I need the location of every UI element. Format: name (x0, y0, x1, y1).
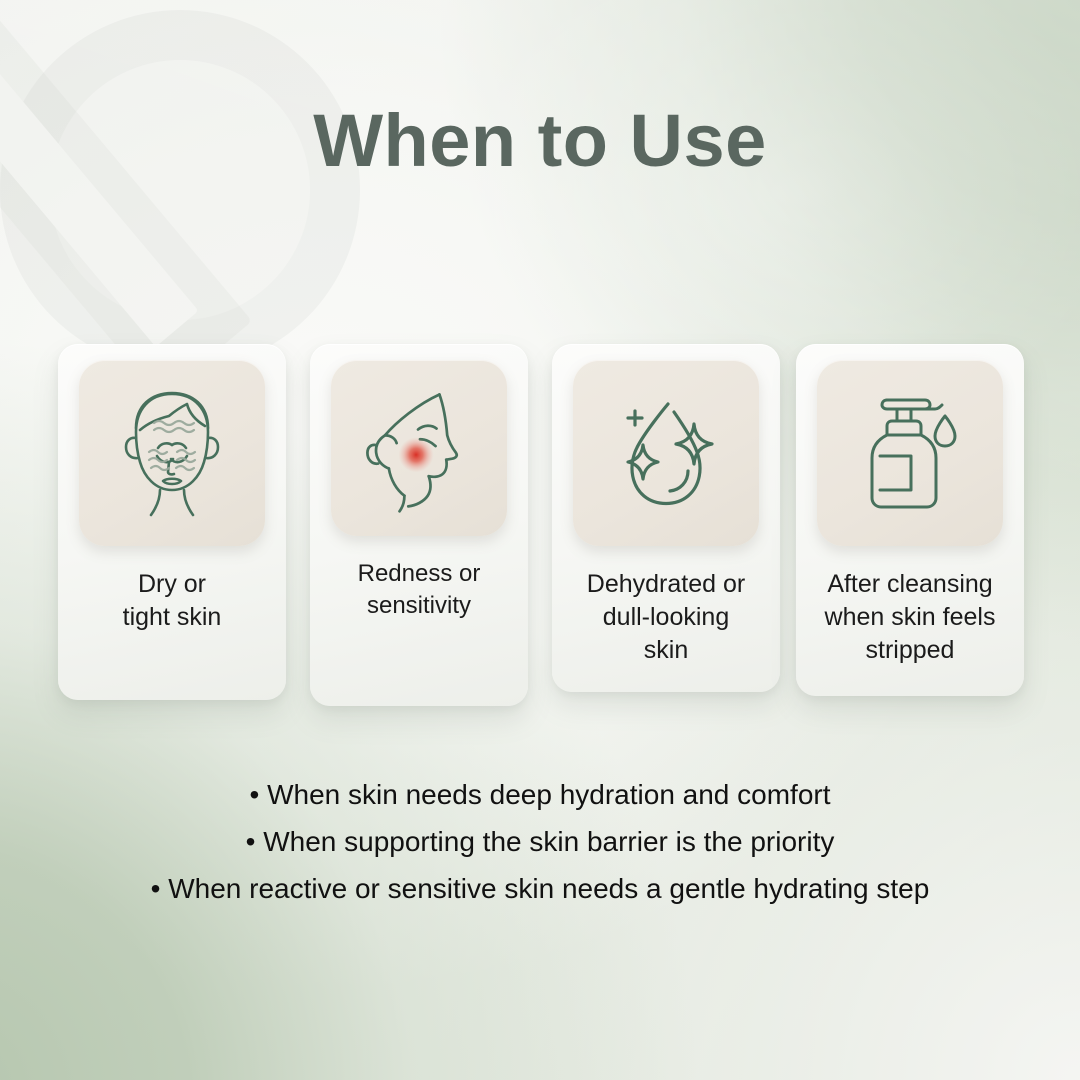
bullet-item: • When supporting the skin barrier is th… (0, 819, 1080, 866)
card-label: Redness or sensitivity (348, 558, 491, 621)
bullet-item: • When skin needs deep hydration and com… (0, 772, 1080, 819)
icon-tile (331, 360, 507, 536)
card-redness-sensitivity[interactable]: Redness or sensitivity (310, 344, 528, 706)
card-after-cleansing[interactable]: After cleansing when skin feels stripped (796, 344, 1024, 696)
icon-tile (573, 360, 759, 546)
card-label: Dry or tight skin (113, 568, 232, 634)
card-label: Dehydrated or dull-looking skin (577, 568, 755, 667)
redness-spot (399, 437, 434, 472)
poster-canvas: MIANA When to Use (0, 0, 1080, 1080)
dry-face-icon (97, 378, 247, 528)
bullet-list: • When skin needs deep hydration and com… (0, 772, 1080, 912)
icon-tile (817, 360, 1003, 546)
page-title: When to Use (0, 104, 1080, 178)
icon-tile (79, 360, 265, 546)
card-dehydrated-dull-skin[interactable]: Dehydrated or dull-looking skin (552, 344, 780, 692)
card-label: After cleansing when skin feels stripped (815, 568, 1006, 667)
card-dry-tight-skin[interactable]: Dry or tight skin (58, 344, 286, 700)
pump-bottle-icon (835, 378, 985, 528)
redness-profile-face-icon (346, 375, 492, 521)
bullet-item: • When reactive or sensitive skin needs … (0, 866, 1080, 913)
water-droplet-sparkle-icon (591, 378, 741, 528)
cards-row: Dry or tight skin (58, 344, 1024, 714)
